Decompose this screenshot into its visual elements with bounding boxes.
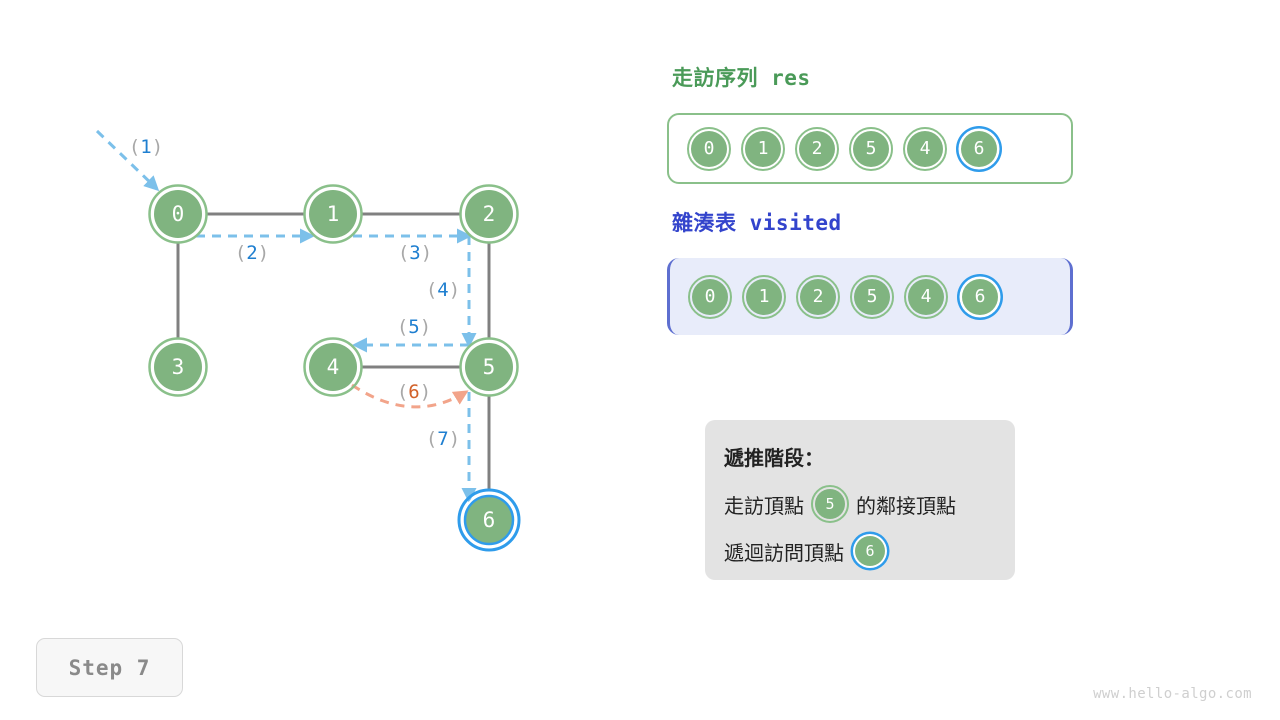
edge-label-1: (1) bbox=[129, 136, 163, 158]
graph-node-3-label: 3 bbox=[172, 355, 185, 379]
info-line-1-suffix: 的鄰接頂點 bbox=[856, 490, 956, 519]
info-line-2-prefix: 遞迴訪問頂點 bbox=[724, 537, 844, 566]
info-line-1-prefix: 走訪頂點 bbox=[724, 490, 804, 519]
info-heading: 遞推階段： bbox=[724, 442, 1015, 471]
graph-node-6[interactable]: 6 bbox=[459, 490, 519, 550]
visited-title: 雜湊表 visited bbox=[672, 207, 842, 237]
visited-item-label: 0 bbox=[692, 279, 728, 315]
visited-item-highlighted[interactable]: 6 bbox=[958, 275, 1002, 319]
res-item[interactable]: 0 bbox=[687, 127, 731, 171]
edge-label-4: (4) bbox=[426, 279, 460, 301]
edge-label-7-number: 7 bbox=[437, 428, 448, 450]
graph-node-1[interactable]: 1 bbox=[305, 186, 362, 243]
graph-node-6-label: 6 bbox=[483, 508, 496, 532]
right-panel: 走訪序列 res 0 1 2 5 4 6 雜湊表 visited bbox=[660, 0, 1280, 720]
info-line-2: 遞迴訪問頂點 6 bbox=[724, 532, 1015, 570]
watermark: www.hello-algo.com bbox=[1093, 686, 1252, 702]
graph-node-3[interactable]: 3 bbox=[150, 339, 207, 396]
edge-label-2-number: 2 bbox=[246, 242, 257, 264]
visited-item-label: 2 bbox=[800, 279, 836, 315]
visited-item[interactable]: 4 bbox=[904, 275, 948, 319]
visited-item[interactable]: 2 bbox=[796, 275, 840, 319]
edge-label-7: (7) bbox=[426, 428, 460, 450]
res-item-label: 6 bbox=[961, 131, 997, 167]
res-list: 0 1 2 5 4 6 bbox=[667, 113, 1073, 184]
visited-item[interactable]: 5 bbox=[850, 275, 894, 319]
graph-node-2-label: 2 bbox=[483, 202, 496, 226]
edge-label-4-number: 4 bbox=[437, 279, 448, 301]
res-item-label: 2 bbox=[799, 131, 835, 167]
info-node-6-label: 6 bbox=[855, 536, 885, 566]
graph-node-0[interactable]: 0 bbox=[150, 186, 207, 243]
edge-label-5: (5) bbox=[397, 316, 431, 338]
res-item[interactable]: 4 bbox=[903, 127, 947, 171]
res-item-label: 0 bbox=[691, 131, 727, 167]
graph-node-2[interactable]: 2 bbox=[461, 186, 518, 243]
edge-label-6: (6) bbox=[397, 381, 431, 403]
step-badge: Step 7 bbox=[36, 638, 183, 697]
visited-item[interactable]: 1 bbox=[742, 275, 786, 319]
info-line-1: 走訪頂點 5 的鄰接頂點 bbox=[724, 485, 1015, 523]
visited-item-label: 6 bbox=[962, 279, 998, 315]
graph-nodes: 0 1 2 3 4 bbox=[150, 186, 520, 551]
graph-node-4[interactable]: 4 bbox=[305, 339, 362, 396]
graph-diagram: 0 1 2 3 4 bbox=[0, 0, 640, 720]
res-item[interactable]: 1 bbox=[741, 127, 785, 171]
visited-item-label: 4 bbox=[908, 279, 944, 315]
graph-node-1-label: 1 bbox=[327, 202, 340, 226]
info-node-5-label: 5 bbox=[815, 489, 845, 519]
res-item-highlighted[interactable]: 6 bbox=[957, 127, 1001, 171]
edge-label-6-number: 6 bbox=[408, 381, 419, 403]
visited-item[interactable]: 0 bbox=[688, 275, 732, 319]
edge-label-5-number: 5 bbox=[408, 316, 419, 338]
graph-node-0-label: 0 bbox=[172, 202, 185, 226]
graph-panel: 0 1 2 3 4 bbox=[0, 0, 640, 720]
res-item-label: 4 bbox=[907, 131, 943, 167]
visited-item-label: 5 bbox=[854, 279, 890, 315]
visited-item-label: 1 bbox=[746, 279, 782, 315]
edge-label-1-number: 1 bbox=[140, 136, 151, 158]
edge-label-3: (3) bbox=[398, 242, 432, 264]
visited-list: 0 1 2 5 4 6 bbox=[667, 258, 1073, 335]
res-item-label: 5 bbox=[853, 131, 889, 167]
edge-label-3-number: 3 bbox=[409, 242, 420, 264]
graph-node-4-label: 4 bbox=[327, 355, 340, 379]
res-item-label: 1 bbox=[745, 131, 781, 167]
graph-node-5-label: 5 bbox=[483, 355, 496, 379]
info-panel: 遞推階段： 走訪頂點 5 的鄰接頂點 遞迴訪問頂點 6 bbox=[705, 420, 1015, 580]
info-node-6[interactable]: 6 bbox=[851, 532, 889, 570]
res-item[interactable]: 2 bbox=[795, 127, 839, 171]
res-item[interactable]: 5 bbox=[849, 127, 893, 171]
info-node-5[interactable]: 5 bbox=[811, 485, 849, 523]
graph-node-5[interactable]: 5 bbox=[461, 339, 518, 396]
res-title: 走訪序列 res bbox=[672, 62, 811, 92]
edge-label-2: (2) bbox=[235, 242, 269, 264]
